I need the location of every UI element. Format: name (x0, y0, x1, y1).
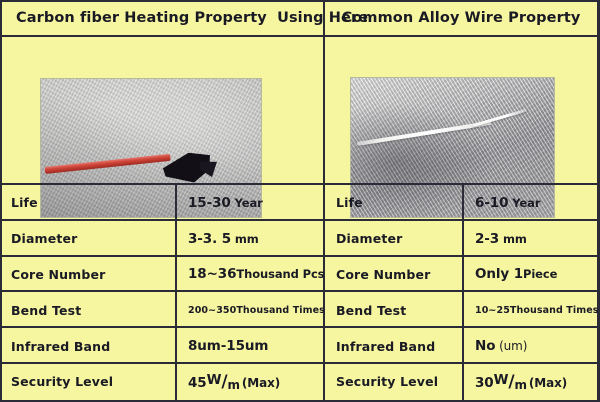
header-cell-left: Carbon fiber Heating Property Using Here (2, 2, 323, 35)
spec-key-label: Security Level (336, 374, 438, 389)
spec-value-cell: Only 1Piece (464, 257, 597, 293)
spec-key-cell: Diameter (2, 221, 175, 257)
spec-value-cell: No (um) (464, 328, 597, 364)
header-row: Carbon fiber Heating Property Using Here… (0, 2, 600, 35)
header-cell-right: Common Alloy Wire Property (325, 2, 597, 35)
spec-value-label: 8um-15um (188, 338, 268, 354)
spec-key-cell: Security Level (2, 364, 175, 400)
spec-key-label: Diameter (11, 231, 77, 246)
spec-value-label: 30W/m (Max) (475, 372, 567, 392)
spec-key-label: Bend Test (336, 303, 406, 318)
spec-row: Infrared BandNo (um) (325, 328, 597, 364)
spec-value-label: 200~350Thousand Times (188, 305, 325, 316)
spec-value-label: 2-3 mm (475, 231, 527, 247)
spec-key-cell: Diameter (325, 221, 462, 257)
spec-row: Core Number18~36Thousand Pcs (2, 257, 323, 293)
spec-value-label: 45W/m(Max) (188, 372, 280, 392)
spec-key-cell: Bend Test (325, 292, 462, 328)
spec-value-label: 10~25Thousand Times (475, 305, 599, 316)
spec-row: Life6-10 Year (325, 185, 597, 221)
comparison-table-page: Carbon fiber Heating Property Using Here… (0, 0, 600, 402)
spec-value-label: 18~36Thousand Pcs (188, 266, 324, 282)
spec-key-label: Life (336, 195, 363, 210)
spec-key-cell: Life (325, 185, 462, 221)
spec-key-label: Bend Test (11, 303, 81, 318)
spec-key-cell: Life (2, 185, 175, 221)
power-density-fraction: W/m (Max) (494, 372, 568, 392)
spec-key-cell: Security Level (325, 364, 462, 400)
spec-key-label: Security Level (11, 374, 113, 389)
right-column-title: Common Alloy Wire Property (342, 11, 581, 26)
spec-value-cell: 45W/m(Max) (177, 364, 323, 400)
spec-value-cell: 200~350Thousand Times (177, 292, 323, 328)
spec-key-cell: Core Number (2, 257, 175, 293)
spec-value-label: No (um) (475, 338, 527, 354)
spec-value-label: 3-3. 5 mm (188, 231, 259, 247)
spec-value-label: 15-30 Year (188, 195, 263, 211)
spec-row: Bend Test200~350Thousand Times (2, 292, 323, 328)
spec-table-carbon-fiber: Life15-30 YearDiameter3-3. 5 mmCore Numb… (2, 185, 323, 400)
spec-key-label: Infrared Band (11, 339, 110, 354)
spec-value-cell: 8um-15um (177, 328, 323, 364)
spec-value-cell: 3-3. 5 mm (177, 221, 323, 257)
photo-band (0, 37, 600, 183)
spec-value-label: Only 1Piece (475, 266, 557, 282)
spec-key-cell: Infrared Band (2, 328, 175, 364)
spec-row: Security Level45W/m(Max) (2, 364, 323, 400)
power-density-fraction: W/m(Max) (207, 372, 281, 392)
spec-key-label: Core Number (336, 267, 430, 282)
spec-key-label: Core Number (11, 267, 105, 282)
spec-value-cell: 6-10 Year (464, 185, 597, 221)
spec-value-cell: 30W/m (Max) (464, 364, 597, 400)
spec-row: Diameter2-3 mm (325, 221, 597, 257)
spec-row: Life15-30 Year (2, 185, 323, 221)
spec-row: Bend Test10~25Thousand Times (325, 292, 597, 328)
spec-row: Core NumberOnly 1Piece (325, 257, 597, 293)
spec-key-label: Infrared Band (336, 339, 435, 354)
spec-row: Security Level30W/m (Max) (325, 364, 597, 400)
spec-row: Infrared Band8um-15um (2, 328, 323, 364)
spec-value-cell: 15-30 Year (177, 185, 323, 221)
spec-row: Diameter3-3. 5 mm (2, 221, 323, 257)
spec-value-cell: 2-3 mm (464, 221, 597, 257)
spec-value-label: 6-10 Year (475, 195, 540, 211)
spec-value-cell: 18~36Thousand Pcs (177, 257, 323, 293)
spec-value-cell: 10~25Thousand Times (464, 292, 597, 328)
spec-key-label: Life (11, 195, 38, 210)
spec-key-cell: Core Number (325, 257, 462, 293)
spec-table-alloy-wire: Life6-10 YearDiameter2-3 mmCore NumberOn… (325, 185, 597, 400)
spec-key-cell: Bend Test (2, 292, 175, 328)
spec-key-cell: Infrared Band (325, 328, 462, 364)
left-column-title: Carbon fiber Heating Property Using Here (16, 11, 368, 26)
spec-key-label: Diameter (336, 231, 402, 246)
